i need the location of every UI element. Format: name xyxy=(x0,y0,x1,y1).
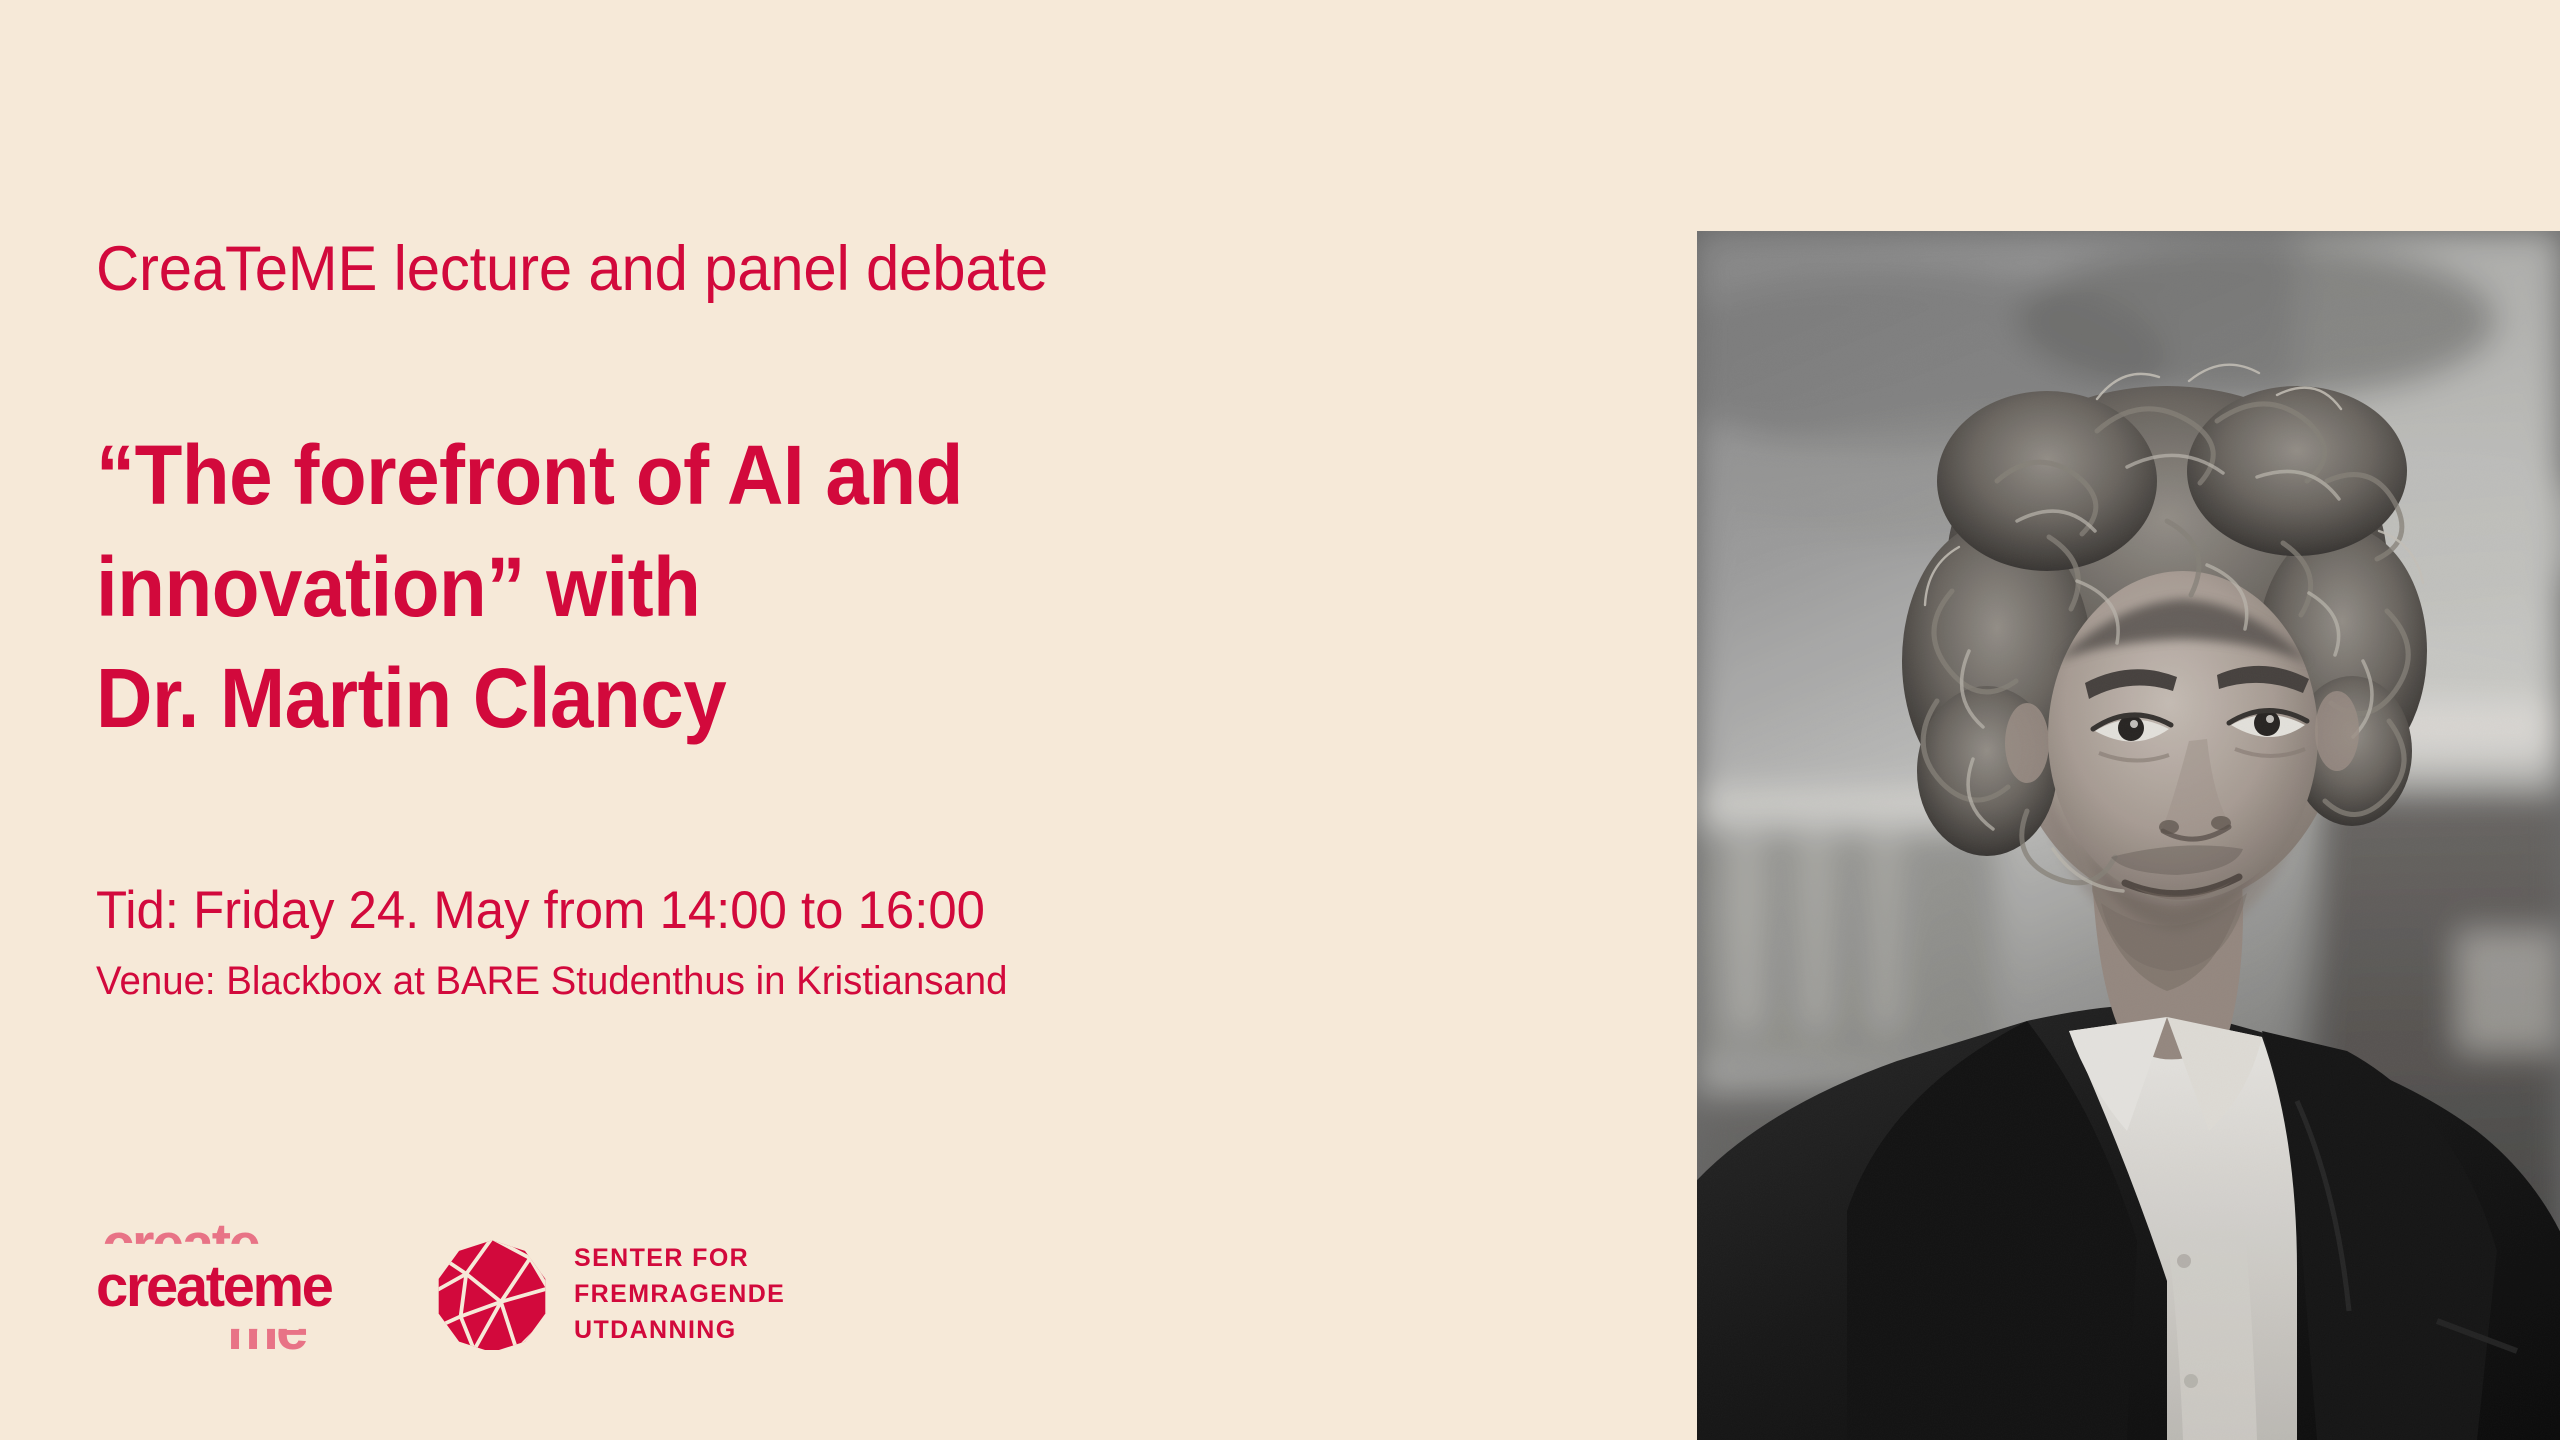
createme-wordmark: createme xyxy=(96,1258,332,1316)
event-time: Tid: Friday 24. May from 14:00 to 16:00 xyxy=(96,880,1344,943)
sfu-logo: Senter for Fremragende Utdanning xyxy=(436,1228,785,1360)
headline-line-1: “The forefront of AI and xyxy=(96,420,1305,532)
event-details: Tid: Friday 24. May from 14:00 to 16:00 … xyxy=(96,880,1396,1005)
sfu-wordmark: Senter for Fremragende Utdanning xyxy=(574,1240,785,1348)
headline-line-3: Dr. Martin Clancy xyxy=(96,643,1305,755)
page-title: “The forefront of AI and innovation” wit… xyxy=(96,420,1305,755)
text-column: CreaTeME lecture and panel debate “The f… xyxy=(96,0,1636,1440)
sfu-line-2: Fremragende xyxy=(574,1276,785,1312)
headline-line-2: innovation” with xyxy=(96,532,1305,644)
sfu-line-3: Utdanning xyxy=(574,1312,785,1348)
logo-row: create createme me xyxy=(96,1228,785,1368)
poster-canvas: CreaTeME lecture and panel debate “The f… xyxy=(0,0,2560,1440)
event-venue: Venue: Blackbox at BARE Studenthus in Kr… xyxy=(96,957,1344,1005)
faceted-polygon-icon xyxy=(436,1238,548,1350)
speaker-portrait xyxy=(1697,231,2560,1440)
sfu-line-1: Senter for xyxy=(574,1240,785,1276)
createme-logo: create createme me xyxy=(96,1228,326,1360)
eyebrow-heading: CreaTeME lecture and panel debate xyxy=(96,238,1048,301)
